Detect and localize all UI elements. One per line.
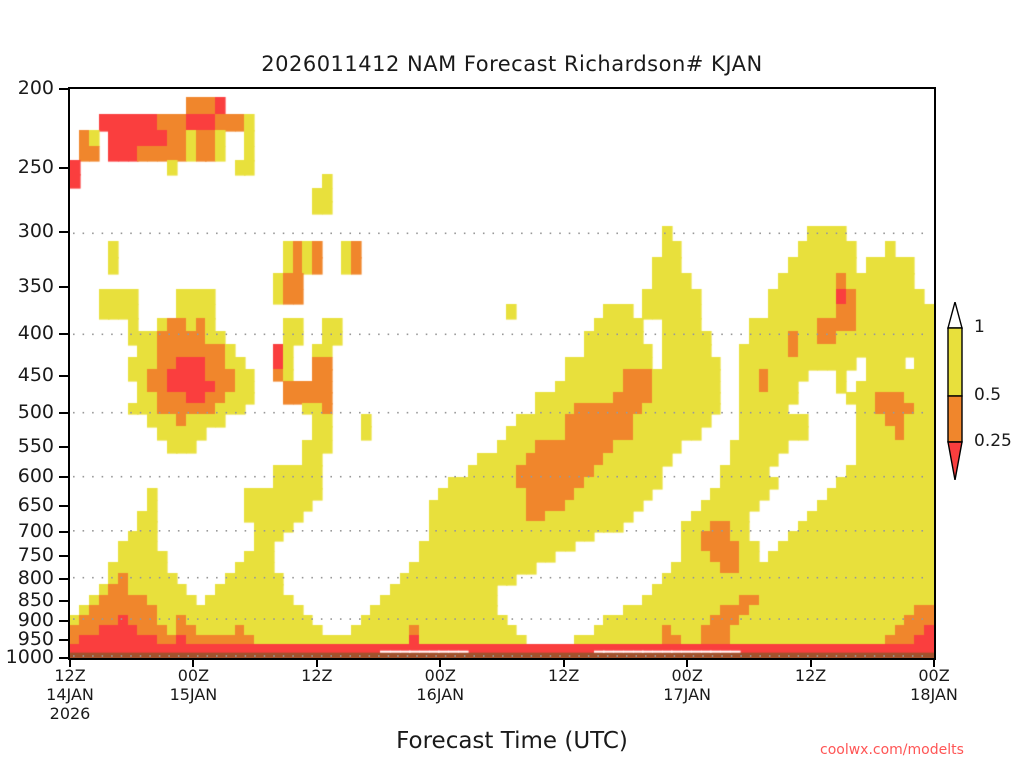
- y-tick-800: [59, 578, 68, 580]
- chart-title: 2026011412 NAM Forecast Richardson# KJAN: [0, 52, 1024, 76]
- y-tick-750: [59, 555, 68, 557]
- chart-root: 2026011412 NAM Forecast Richardson# KJAN…: [0, 0, 1024, 768]
- x-tick-label-1: 00Z15JAN: [148, 666, 238, 704]
- x-tick-label-0: 12Z14JAN2026: [25, 666, 115, 723]
- x-tick-label-3: 00Z16JAN: [395, 666, 485, 704]
- y-tick-950: [59, 639, 68, 641]
- y-tick-500: [59, 412, 68, 414]
- y-tick-label-250: 250: [0, 156, 54, 178]
- y-tick-label-400: 400: [0, 322, 54, 344]
- y-tick-450: [59, 375, 68, 377]
- y-tick-1000: [59, 657, 68, 659]
- y-tick-label-200: 200: [0, 77, 54, 99]
- x-tick-label-6: 12Z: [766, 666, 856, 685]
- y-tick-label-300: 300: [0, 220, 54, 242]
- y-tick-label-700: 700: [0, 520, 54, 542]
- colorbar-over-triangle: [948, 302, 962, 328]
- plot-area: [68, 87, 936, 660]
- y-tick-600: [59, 476, 68, 478]
- colorbar-band-orange: [948, 396, 962, 442]
- y-tick-label-800: 800: [0, 567, 54, 589]
- y-tick-400: [59, 333, 68, 335]
- y-tick-250: [59, 167, 68, 169]
- y-tick-label-850: 850: [0, 589, 54, 611]
- y-tick-label-500: 500: [0, 401, 54, 423]
- y-tick-label-450: 450: [0, 364, 54, 386]
- y-tick-850: [59, 600, 68, 602]
- y-tick-900: [59, 620, 68, 622]
- y-tick-label-600: 600: [0, 465, 54, 487]
- colorbar-band-yellow: [948, 328, 962, 396]
- x-tick-label-7: 00Z18JAN: [889, 666, 979, 704]
- heatmap-cells: [70, 89, 934, 658]
- y-tick-700: [59, 531, 68, 533]
- y-tick-label-650: 650: [0, 494, 54, 516]
- y-tick-label-750: 750: [0, 544, 54, 566]
- y-tick-650: [59, 505, 68, 507]
- x-tick-label-4: 12Z: [519, 666, 609, 685]
- colorbar-label-1: 1: [974, 317, 985, 337]
- y-tick-label-350: 350: [0, 275, 54, 297]
- x-tick-label-5: 00Z17JAN: [642, 666, 732, 704]
- watermark: coolwx.com/modelts: [820, 742, 964, 758]
- y-tick-550: [59, 446, 68, 448]
- heatmap-canvas: [70, 89, 934, 658]
- colorbar-label-025: 0.25: [974, 431, 1012, 451]
- y-tick-350: [59, 286, 68, 288]
- colorbar: [941, 302, 969, 480]
- y-tick-label-550: 550: [0, 435, 54, 457]
- y-tick-label-1000: 1000: [0, 646, 54, 668]
- colorbar-under-triangle: [948, 442, 962, 480]
- y-tick-300: [59, 231, 68, 233]
- x-tick-label-2: 12Z: [272, 666, 362, 685]
- y-tick-200: [59, 88, 68, 90]
- colorbar-label-05: 0.5: [974, 385, 1001, 405]
